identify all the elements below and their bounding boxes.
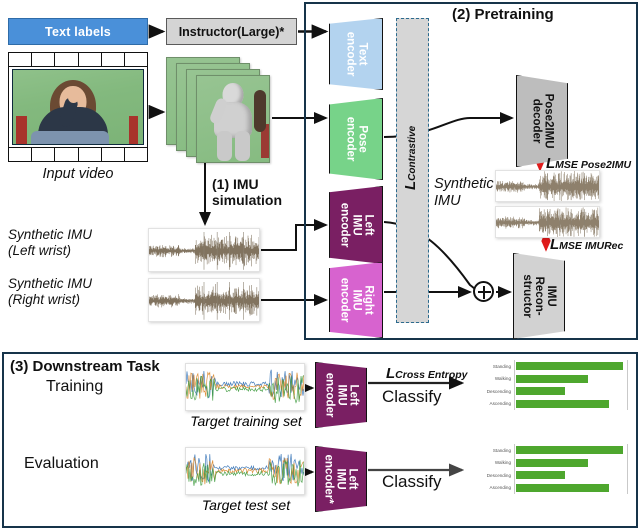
text-labels-box: Text labels xyxy=(8,18,148,45)
bar-fill xyxy=(516,400,609,408)
bar-track xyxy=(514,360,632,373)
pose-encoder-line2: encoder xyxy=(344,117,356,162)
bar-track xyxy=(514,469,632,482)
right-imu-encoder-label: Right IMU encoder xyxy=(338,278,374,323)
loss-ce-sub: Cross Entropy xyxy=(395,369,467,381)
left-imu-line3: encoder xyxy=(338,203,350,248)
contrastive-loss-sub: Contrastive xyxy=(407,126,418,181)
loss-ce-L: L xyxy=(386,365,395,382)
target-test-set-plot xyxy=(185,447,305,495)
bar-category-label: Ascending xyxy=(466,401,514,406)
loss-imurec-sub: MSE IMURec xyxy=(559,240,623,252)
bar-category-label: Walking xyxy=(466,460,514,465)
bar-track xyxy=(514,482,632,495)
imu-recon-line2: Recon- xyxy=(533,274,545,317)
ds-eval-line1: Left xyxy=(347,454,359,503)
synthetic-imu-right-plot xyxy=(148,278,260,322)
right-imu-line3: encoder xyxy=(338,278,350,323)
input-video-filmstrip xyxy=(8,52,148,162)
text-encoder-line2: encoder xyxy=(344,32,356,77)
bar-fill xyxy=(516,387,565,395)
target-training-set-plot xyxy=(185,363,305,411)
loss-imurec-L: L xyxy=(550,236,559,253)
downstream-left-imu-encoder-evaluation[interactable]: Left IMU encoder* xyxy=(315,446,367,512)
bar-row: Descending xyxy=(466,469,632,482)
imu-signal-trace xyxy=(496,171,599,201)
training-class-score-barchart: StandingWalkingDescendingAscending xyxy=(466,360,632,410)
synthetic-right-line2: (Right wrist) xyxy=(8,292,144,308)
ds-train-line1: Left xyxy=(347,373,359,418)
imu-simulation-label: (1) IMU simulation xyxy=(212,176,312,208)
imu-signal-trace xyxy=(149,279,259,321)
bar-track xyxy=(514,457,632,470)
reconstructed-imu-plot-1 xyxy=(495,170,600,202)
imu-signal-trace xyxy=(496,207,599,237)
bar-row: Walking xyxy=(466,457,632,470)
ds-train-line2: IMU xyxy=(335,373,347,418)
loss-pose2imu-sub: MSE Pose2IMU xyxy=(555,159,631,171)
bar-row: Standing xyxy=(466,360,632,373)
evaluation-row-label: Evaluation xyxy=(24,455,99,473)
bar-fill xyxy=(516,471,565,479)
loss-mse-imurec-label: LMSE IMURec xyxy=(550,236,623,254)
pose2imu-decoder-block[interactable]: Pose2IMU decoder xyxy=(516,75,568,167)
contrastive-loss-label: LContrastive xyxy=(402,130,422,190)
target-test-set-caption: Target test set xyxy=(176,497,316,513)
bar-row: Walking xyxy=(466,373,632,386)
synthetic-imu-left-caption: Synthetic IMU (Left wrist) xyxy=(8,227,144,259)
bar-fill xyxy=(516,459,588,467)
imu-recon-line3: structor xyxy=(521,274,533,317)
input-video-caption: Input video xyxy=(8,166,148,182)
imu-simulation-line1: (1) IMU xyxy=(212,176,312,192)
left-imu-encoder-block[interactable]: Left IMU encoder xyxy=(329,186,383,264)
pose-encoder-block[interactable]: Pose encoder xyxy=(329,98,383,180)
bar-row: Ascending xyxy=(466,398,632,411)
imu-signal-trace xyxy=(149,229,259,271)
right-imu-encoder-block[interactable]: Right IMU encoder xyxy=(329,262,383,338)
synthetic-left-line1: Synthetic IMU xyxy=(8,227,144,243)
loss-cross-entropy-label: LCross Entropy xyxy=(386,365,468,383)
bar-category-label: Ascending xyxy=(466,485,514,490)
reconstructed-imu-plot-2 xyxy=(495,206,600,238)
pose2imu-line1: Pose2IMU xyxy=(542,94,554,149)
evaluation-class-score-barchart: StandingWalkingDescendingAscending xyxy=(466,444,632,494)
bar-category-label: Standing xyxy=(466,364,514,369)
bar-track xyxy=(514,444,632,457)
pose-encoder-line1: Pose xyxy=(356,117,368,162)
loss-pose2imu-L: L xyxy=(546,155,555,172)
filmstrip-perforations-top xyxy=(9,53,147,67)
left-imu-encoder-label: Left IMU encoder xyxy=(338,203,374,248)
text-encoder-block[interactable]: Text encoder xyxy=(329,18,383,90)
bar-category-label: Walking xyxy=(466,376,514,381)
synthetic-imu-right-caption: Synthetic IMU (Right wrist) xyxy=(8,276,144,308)
text-encoder-label: Text encoder xyxy=(344,32,368,77)
bar-track xyxy=(514,385,632,398)
multichannel-signal-trace xyxy=(186,364,304,411)
right-imu-line1: Right xyxy=(362,278,374,323)
classify-label-training: Classify xyxy=(382,387,442,407)
pretraining-title: (2) Pretraining xyxy=(452,6,554,23)
bar-track xyxy=(514,398,632,411)
filmstrip-perforations-bottom xyxy=(9,147,147,161)
classify-label-evaluation: Classify xyxy=(382,472,442,492)
bar-fill xyxy=(516,362,623,370)
training-row-label: Training xyxy=(46,378,103,396)
downstream-left-imu-encoder-training[interactable]: Left IMU encoder xyxy=(315,362,367,428)
bar-row: Standing xyxy=(466,444,632,457)
bar-category-label: Standing xyxy=(466,448,514,453)
figure-canvas: Text labels Instructor(Large)* Input vid… xyxy=(0,0,640,531)
target-training-set-caption: Target training set xyxy=(176,413,316,429)
bar-row: Descending xyxy=(466,385,632,398)
bar-category-label: Descending xyxy=(466,389,514,394)
multichannel-signal-trace xyxy=(186,448,304,495)
imu-reconstructor-block[interactable]: IMU Recon- structor xyxy=(513,253,565,339)
downstream-encoder-eval-label: Left IMU encoder* xyxy=(323,454,359,503)
pose-encoder-label: Pose encoder xyxy=(344,117,368,162)
bar-category-label: Descending xyxy=(466,473,514,478)
pose-mesh-frame-front xyxy=(196,75,270,163)
synthetic-right-line1: Synthetic IMU xyxy=(8,276,144,292)
contrastive-loss-L: L xyxy=(402,181,419,190)
pose2imu-decoder-label: Pose2IMU decoder xyxy=(530,94,554,149)
ds-train-line3: encoder xyxy=(323,373,335,418)
instructor-model-box: Instructor(Large)* xyxy=(166,18,297,45)
bar-track xyxy=(514,373,632,386)
left-imu-line1: Left xyxy=(362,203,374,248)
sum-operator-icon xyxy=(473,281,494,302)
synthetic-left-line2: (Left wrist) xyxy=(8,243,144,259)
right-imu-line2: IMU xyxy=(350,278,362,323)
synthetic-imu-label: Synthetic IMU xyxy=(434,176,496,209)
left-imu-line2: IMU xyxy=(350,203,362,248)
ds-eval-line2: IMU xyxy=(335,454,347,503)
downstream-encoder-train-label: Left IMU encoder xyxy=(323,373,359,418)
synthetic-imu-left-plot xyxy=(148,228,260,272)
downstream-task-title: (3) Downstream Task xyxy=(10,358,160,375)
pose2imu-line2: decoder xyxy=(530,94,542,149)
imu-recon-line1: IMU xyxy=(545,274,557,317)
ds-eval-line3: encoder* xyxy=(323,454,335,503)
video-frame-image xyxy=(12,69,144,145)
text-encoder-line1: Text xyxy=(356,32,368,77)
bar-fill xyxy=(516,484,609,492)
imu-reconstructor-label: IMU Recon- structor xyxy=(521,274,557,317)
bar-row: Ascending xyxy=(466,482,632,495)
imu-simulation-line2: simulation xyxy=(212,192,312,208)
bar-fill xyxy=(516,375,588,383)
loss-mse-pose2imu-label: LMSE Pose2IMU xyxy=(546,155,631,173)
bar-fill xyxy=(516,446,623,454)
synthetic-imu-line1: Synthetic xyxy=(434,176,496,193)
synthetic-imu-line2: IMU xyxy=(434,193,496,210)
